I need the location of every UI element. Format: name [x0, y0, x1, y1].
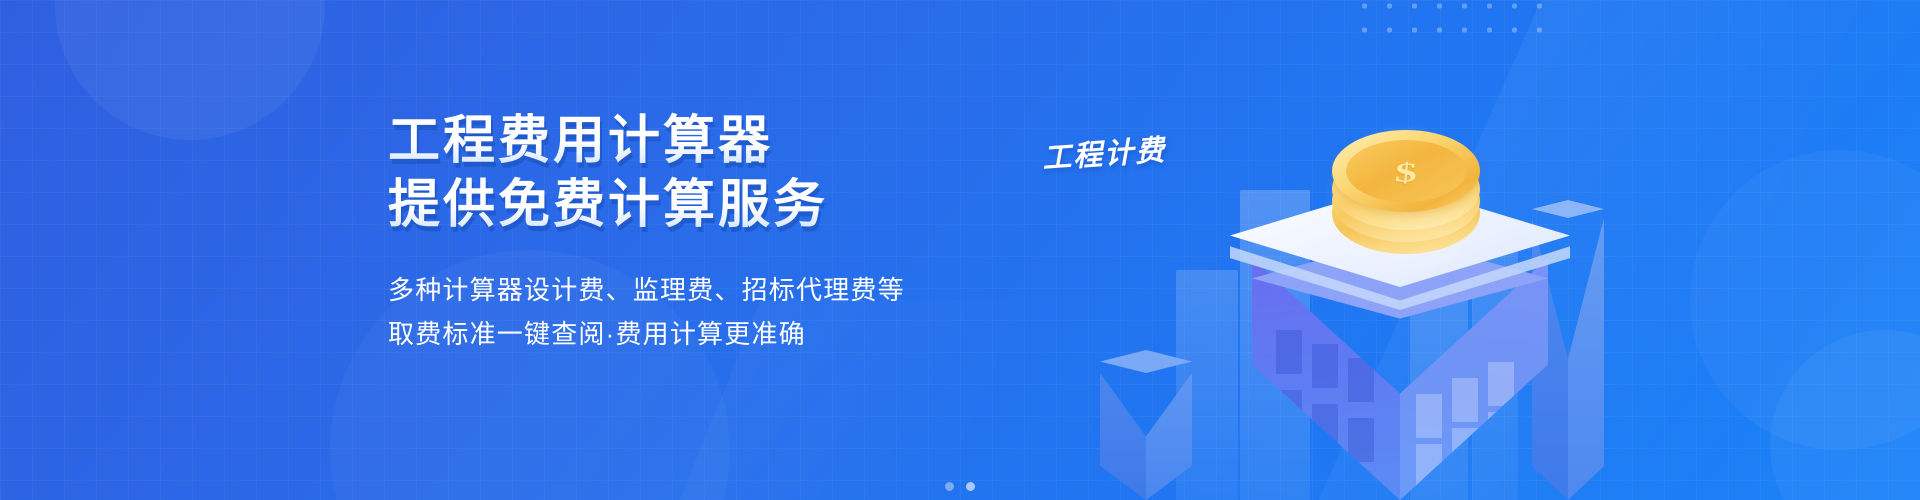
- headline-line-1: 工程费用计算器: [388, 112, 1028, 170]
- carousel-indicators[interactable]: [0, 482, 1920, 491]
- hero-illustration: $: [1080, 0, 1640, 500]
- hero-banner: 工程费用计算器 提供免费计算服务 多种计算器设计费、监理费、招标代理费等 取费标…: [0, 0, 1920, 500]
- decorative-circle-right: [1690, 150, 1920, 450]
- carousel-dot-1[interactable]: [945, 482, 954, 491]
- coin-stack-icon: $: [1332, 128, 1480, 256]
- carousel-dot-2[interactable]: [966, 482, 975, 491]
- headline-line-2: 提供免费计算服务: [388, 176, 1028, 234]
- subtitle-line-2: 取费标准一键查阅·费用计算更准确: [388, 312, 1028, 356]
- decorative-circle-top-left: [55, 0, 325, 140]
- banner-copy: 工程费用计算器 提供免费计算服务 多种计算器设计费、监理费、招标代理费等 取费标…: [388, 112, 1028, 356]
- decorative-circle-far-right: [1770, 330, 1920, 500]
- dollar-sign-icon: $: [1330, 146, 1482, 198]
- subtitle-line-1: 多种计算器设计费、监理费、招标代理费等: [388, 268, 1028, 312]
- illustration-badge-label: 工程计费: [1041, 127, 1168, 178]
- iso-block-left: [1100, 350, 1192, 500]
